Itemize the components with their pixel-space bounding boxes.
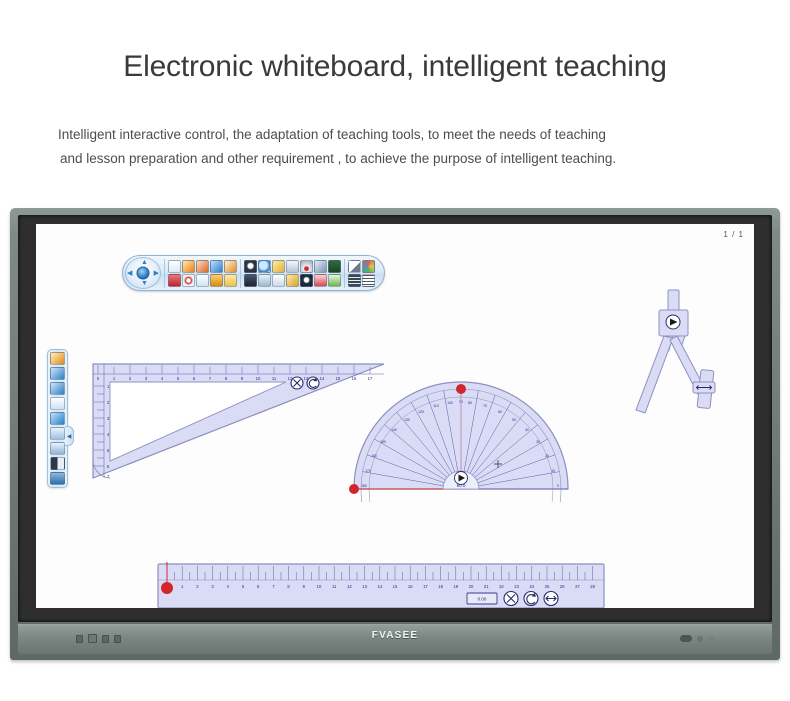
svg-text:25: 25	[545, 584, 550, 589]
svg-text:13: 13	[362, 584, 367, 589]
description-line-2: and lesson preparation and other require…	[60, 147, 758, 171]
ruler-close-button[interactable]	[504, 592, 518, 606]
svg-text:14: 14	[320, 376, 325, 381]
new-white-page-icon[interactable]	[348, 260, 361, 273]
eraser-icon[interactable]	[50, 412, 65, 425]
brand-logo: FVASEE	[18, 630, 772, 641]
ruler-resize-button[interactable]	[544, 592, 558, 606]
svg-text:80: 80	[468, 401, 472, 405]
highlighter-icon[interactable]	[196, 260, 209, 273]
screen-shade-icon[interactable]	[244, 274, 257, 287]
svg-text:28: 28	[590, 584, 595, 589]
grid-icon[interactable]	[314, 274, 327, 287]
protractor-left-handle[interactable]	[349, 484, 359, 494]
svg-text:160: 160	[371, 454, 377, 458]
toolbar-group-file	[164, 259, 240, 288]
svg-text:11: 11	[332, 584, 337, 589]
protractor-angle-readout: 90.0	[457, 483, 466, 488]
display-chin: FVASEE	[18, 624, 772, 654]
svg-text:20: 20	[545, 454, 549, 458]
power-led-icon	[708, 636, 714, 642]
interactive-whiteboard-display: 1 / 1 ◀ ▶ ▲ ▼	[10, 208, 780, 660]
svg-text:70: 70	[483, 404, 487, 408]
ir-receiver-icon	[680, 635, 692, 642]
pencil-icon[interactable]	[182, 260, 195, 273]
svg-text:10: 10	[317, 584, 322, 589]
front-ports	[76, 634, 121, 643]
navigation-pad[interactable]: ◀ ▶ ▲ ▼	[125, 257, 161, 289]
nav-down-arrow-icon[interactable]: ▼	[141, 280, 148, 287]
folder-icon[interactable]	[224, 274, 237, 287]
blackboard-icon[interactable]	[328, 260, 341, 273]
svg-text:60: 60	[498, 410, 502, 414]
svg-text:26: 26	[560, 584, 565, 589]
svg-text:27: 27	[575, 584, 580, 589]
set-square-icon[interactable]	[286, 274, 299, 287]
port-icon-4	[114, 635, 121, 643]
svg-text:10: 10	[256, 376, 261, 381]
grid-view-icon[interactable]	[362, 274, 375, 287]
protractor-icon[interactable]	[300, 260, 313, 273]
svg-text:23: 23	[514, 584, 519, 589]
ruler-left-handle[interactable]	[161, 582, 173, 594]
shapes-icon[interactable]	[314, 260, 327, 273]
color-palette-icon[interactable]	[362, 260, 375, 273]
svg-text:17: 17	[423, 584, 428, 589]
toolbar-row	[348, 260, 375, 273]
compass-tool[interactable]	[621, 286, 731, 416]
svg-text:180: 180	[361, 484, 367, 488]
svg-text:16: 16	[408, 584, 413, 589]
ruler-rotate-button[interactable]	[524, 592, 538, 606]
page-root: Electronic whiteboard, intelligent teach…	[0, 0, 790, 701]
whiteboard-screen[interactable]: 1 / 1 ◀ ▶ ▲ ▼	[36, 224, 754, 608]
svg-text:0: 0	[557, 484, 559, 488]
ruler-icon[interactable]	[272, 260, 285, 273]
svg-text:15: 15	[336, 376, 341, 381]
svg-text:15: 15	[393, 584, 398, 589]
compass-icon[interactable]	[286, 260, 299, 273]
copy-page-icon[interactable]	[196, 274, 209, 287]
svg-text:0.00: 0.00	[478, 597, 487, 602]
list-view-icon[interactable]	[348, 274, 361, 287]
svg-text:30: 30	[536, 440, 540, 444]
undo-icon[interactable]	[50, 367, 65, 380]
edit-page-icon[interactable]	[224, 260, 237, 273]
status-led-icon	[697, 636, 703, 642]
floating-toolbar[interactable]: ◀ ▶ ▲ ▼	[122, 255, 385, 291]
camera-icon[interactable]	[258, 274, 271, 287]
svg-text:120: 120	[418, 410, 424, 414]
svg-text:40: 40	[525, 428, 529, 432]
svg-text:24: 24	[529, 584, 534, 589]
port-icon-1	[76, 635, 83, 643]
compass-play-button[interactable]	[666, 315, 680, 329]
svg-text:14: 14	[377, 584, 382, 589]
pencil-icon[interactable]	[50, 352, 65, 365]
page-indicator: 1 / 1	[723, 230, 744, 239]
svg-text:18: 18	[438, 584, 443, 589]
set-square-tool[interactable]: 012 345 678 91011 121314 151617	[88, 356, 388, 486]
redo-icon[interactable]	[50, 382, 65, 395]
toolbar-group-tools	[240, 259, 344, 288]
screen-capture-icon[interactable]	[300, 274, 313, 287]
svg-text:130: 130	[404, 418, 410, 422]
pointer-icon[interactable]	[50, 442, 65, 455]
toolbar-row	[348, 274, 375, 287]
svg-text:150: 150	[380, 440, 386, 444]
nav-right-arrow-icon[interactable]: ▶	[154, 270, 159, 277]
page-description: Intelligent interactive control, the ada…	[58, 123, 758, 171]
toolbar-row	[168, 260, 237, 273]
svg-text:100: 100	[447, 401, 453, 405]
contrast-icon[interactable]	[50, 457, 65, 470]
port-icon-3	[102, 635, 109, 643]
toolbar-group-view	[344, 259, 378, 288]
toolbox-icon[interactable]	[210, 274, 223, 287]
svg-text:50: 50	[512, 418, 516, 422]
description-line-1: Intelligent interactive control, the ada…	[58, 123, 758, 147]
keyboard-icon[interactable]	[168, 274, 181, 287]
protractor-tool[interactable]: 0 10 20 30 40 50 60 70 80 90 100 110 120…	[346, 377, 576, 502]
ruler-tool[interactable]: 012 345 678 91011 121314 151617 181920 2…	[156, 556, 606, 608]
magnifier-icon[interactable]	[258, 260, 271, 273]
toolbar-row	[244, 274, 341, 287]
protractor-top-handle[interactable]	[456, 384, 466, 394]
set-square-close-button[interactable]	[291, 377, 303, 389]
svg-text:140: 140	[391, 428, 397, 432]
nav-left-arrow-icon[interactable]: ◀	[127, 270, 132, 277]
strip-collapse-toggle[interactable]: ◀	[65, 426, 74, 446]
move-icon[interactable]	[50, 427, 65, 440]
svg-text:21: 21	[484, 584, 489, 589]
svg-text:11: 11	[272, 376, 277, 381]
select-icon[interactable]	[50, 397, 65, 410]
nav-up-arrow-icon[interactable]: ▲	[141, 259, 148, 266]
spotlight-icon[interactable]	[244, 260, 257, 273]
svg-text:19: 19	[453, 584, 458, 589]
save-icon[interactable]	[50, 472, 65, 485]
cloud-shape-icon[interactable]	[272, 274, 285, 287]
nav-center-knob[interactable]	[137, 267, 150, 280]
compass-resize-handle[interactable]	[693, 382, 715, 393]
page-title: Electronic whiteboard, intelligent teach…	[0, 50, 790, 84]
svg-text:22: 22	[499, 584, 504, 589]
toolbar-row	[168, 274, 237, 287]
port-icon-2	[88, 634, 97, 643]
toolbar-row	[244, 260, 341, 273]
ruler-value-box[interactable]: 0.00	[467, 593, 497, 604]
ir-sensor-area	[680, 635, 714, 642]
new-page-icon[interactable]	[168, 260, 181, 273]
record-icon[interactable]	[182, 274, 195, 287]
svg-text:12: 12	[347, 584, 352, 589]
left-tool-strip[interactable]: ◀	[47, 349, 68, 488]
svg-text:110: 110	[433, 404, 439, 408]
svg-text:170: 170	[365, 469, 371, 473]
svg-text:10: 10	[551, 469, 555, 473]
svg-text:20: 20	[469, 584, 474, 589]
number-one-icon[interactable]	[328, 274, 341, 287]
eraser-icon[interactable]	[210, 260, 223, 273]
set-square-rotate-button[interactable]	[307, 377, 319, 389]
